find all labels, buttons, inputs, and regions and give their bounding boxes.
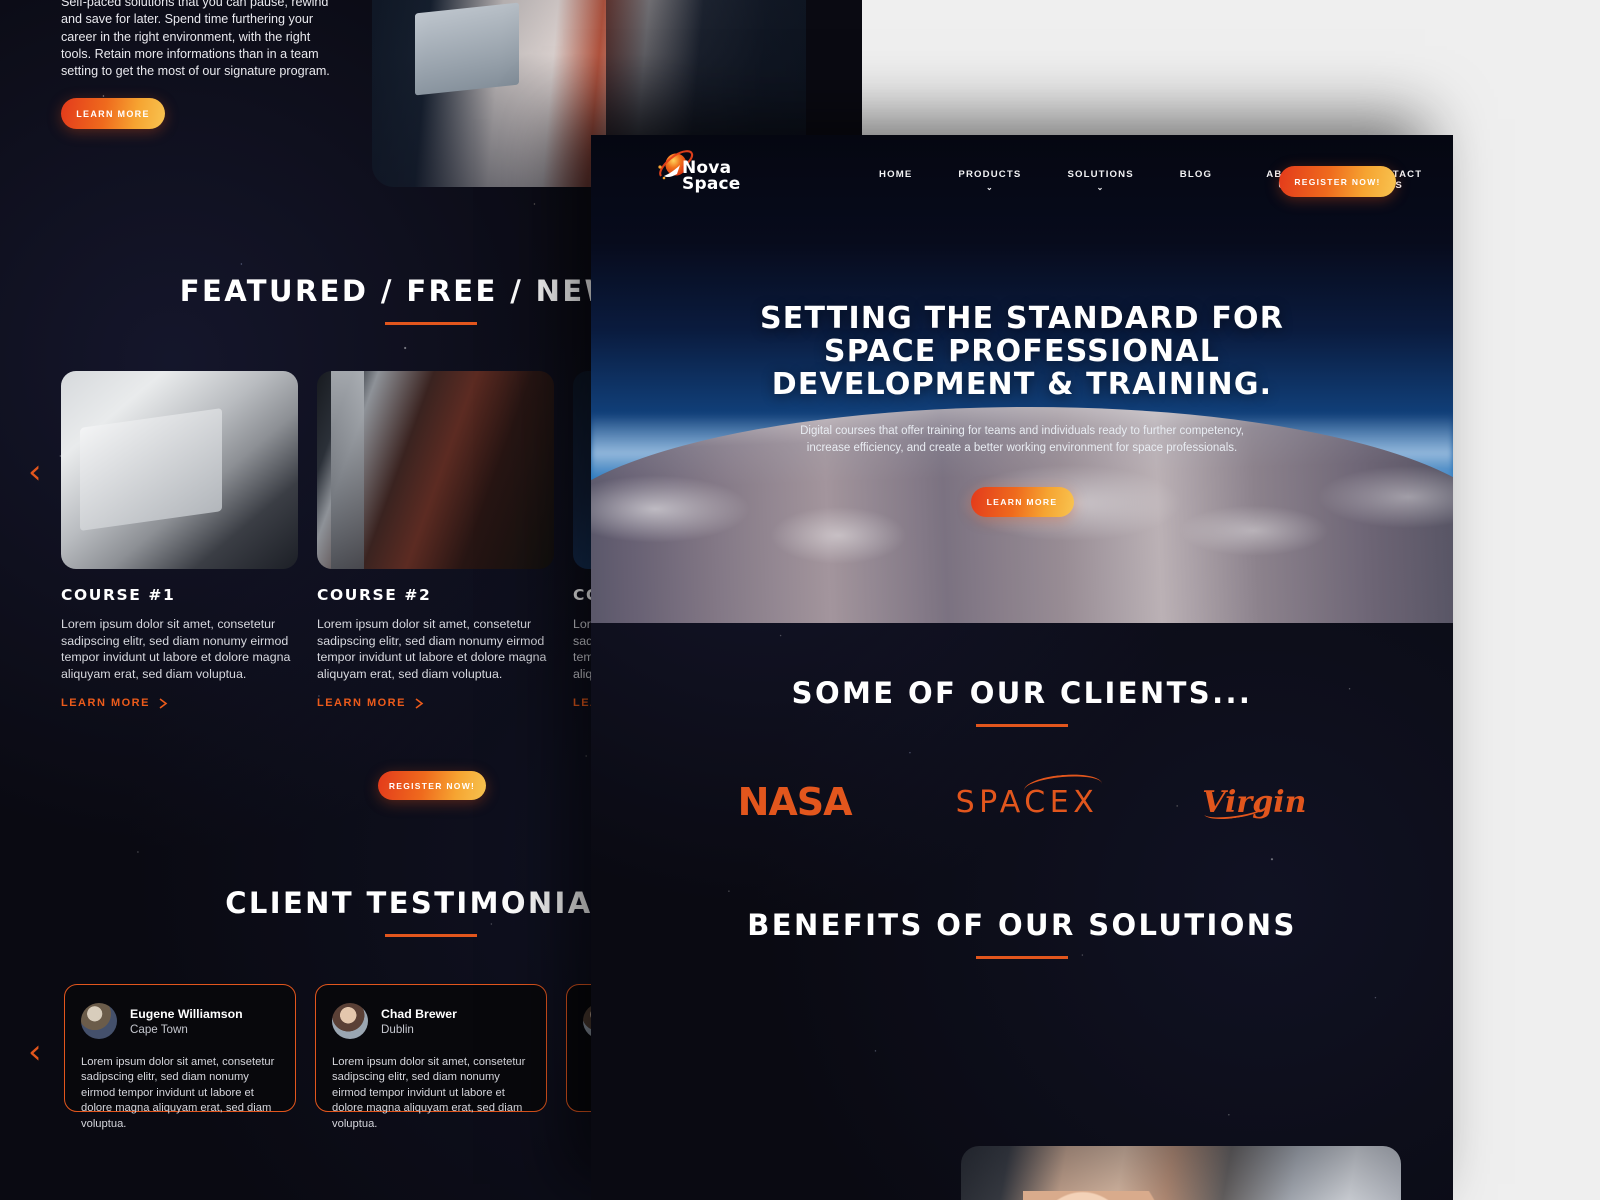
- testimonial-quote: Lorem ipsum dolor sit amet, consetetur s…: [332, 1055, 530, 1132]
- chevron-right-icon: [159, 698, 168, 709]
- heading-rule: [385, 322, 477, 325]
- chevron-right-icon: [415, 698, 424, 709]
- nav-label: HOME: [879, 169, 912, 180]
- testimonial-name: Eugene Williamson: [130, 1007, 243, 1021]
- course-description: Lorem ipsum dolor sit amet, consetetur s…: [317, 616, 554, 682]
- virgin-logo-icon: Virgin: [1202, 785, 1306, 820]
- avatar: [81, 1003, 117, 1039]
- course-card[interactable]: COURSE #2 Lorem ipsum dolor sit amet, co…: [317, 371, 554, 709]
- course-card[interactable]: COURSE #1 Lorem ipsum dolor sit amet, co…: [61, 371, 298, 709]
- avatar: [332, 1003, 368, 1039]
- testimonial-location: Cape Town: [130, 1023, 243, 1036]
- testimonial-name: Chad Brewer: [381, 1007, 457, 1021]
- screenshot-canvas: Self-paced solutions that you can pause,…: [0, 0, 1600, 1200]
- testimonial-person: Eugene Williamson Cape Town: [81, 1003, 279, 1039]
- spacex-logo-icon: SPACEX: [956, 785, 1099, 820]
- course-learn-more-label: LEARN MORE: [61, 697, 150, 709]
- heading-rule: [976, 956, 1068, 959]
- course-learn-more-link[interactable]: LEARN MORE: [317, 697, 554, 709]
- testimonial-person: Chad Brewer Dublin: [332, 1003, 530, 1039]
- course-learn-more-link[interactable]: LEARN MORE: [61, 697, 298, 709]
- clients-heading-block: SOME OF OUR CLIENTS...: [591, 676, 1453, 727]
- hero-title-line-1: SETTING THE STANDARD FOR: [591, 302, 1453, 335]
- course-title: COURSE #1: [61, 586, 298, 604]
- intro-learn-more-button[interactable]: LEARN MORE: [61, 98, 165, 129]
- client-logos: NASA SPACEX Virgin: [591, 780, 1453, 824]
- overlay-body: SOME OF OUR CLIENTS... NASA SPACEX Virgi…: [591, 623, 1453, 1200]
- nav-item-blog[interactable]: BLOG: [1157, 169, 1235, 180]
- chevron-down-icon: ⌄: [958, 184, 1021, 192]
- testimonials-prev-arrow[interactable]: ‹: [28, 1035, 42, 1069]
- nav-item-solutions[interactable]: SOLUTIONS ⌄: [1044, 169, 1156, 192]
- benefit-photo: [961, 1146, 1401, 1200]
- hero-title-line-2: SPACE PROFESSIONAL: [591, 335, 1453, 368]
- testimonial-quote: Lorem ipsum dolor sit amet, consetetur s…: [81, 1055, 279, 1132]
- benefits-heading: BENEFITS OF OUR SOLUTIONS: [591, 908, 1453, 942]
- brand-name-line-2: Space: [682, 177, 741, 193]
- courses-register-button[interactable]: REGISTER NOW!: [378, 771, 486, 800]
- hero-learn-more-button[interactable]: LEARN MORE: [971, 487, 1074, 517]
- brand-logo[interactable]: Nova Space: [652, 149, 752, 201]
- testimonial-card: Eugene Williamson Cape Town Lorem ipsum …: [64, 984, 296, 1112]
- brand-name: Nova Space: [682, 161, 741, 192]
- nav-label: PRODUCTS: [958, 169, 1021, 180]
- nav-label: SOLUTIONS: [1067, 169, 1133, 180]
- course-title: COURSE #2: [317, 586, 554, 604]
- overlay-page: SETTING THE STANDARD FOR SPACE PROFESSIO…: [591, 135, 1453, 1200]
- nav-item-products[interactable]: PRODUCTS ⌄: [935, 169, 1044, 192]
- course-description: Lorem ipsum dolor sit amet, consetetur s…: [61, 616, 298, 682]
- header-register-button[interactable]: REGISTER NOW!: [1279, 166, 1396, 197]
- heading-rule: [385, 934, 477, 937]
- chevron-down-icon: ⌄: [1067, 184, 1133, 192]
- nasa-logo-icon: NASA: [738, 780, 852, 824]
- hero-title: SETTING THE STANDARD FOR SPACE PROFESSIO…: [591, 302, 1453, 401]
- clients-heading: SOME OF OUR CLIENTS...: [591, 676, 1453, 710]
- benefits-heading-block: BENEFITS OF OUR SOLUTIONS: [591, 908, 1453, 959]
- heading-rule: [976, 724, 1068, 727]
- testimonial-location: Dublin: [381, 1023, 457, 1036]
- course-learn-more-label: LEARN MORE: [317, 697, 406, 709]
- course-thumbnail: [61, 371, 298, 569]
- intro-paragraph: Self-paced solutions that you can pause,…: [61, 0, 339, 80]
- hero-subtitle: Digital courses that offer training for …: [787, 423, 1257, 457]
- hero-title-line-3: DEVELOPMENT & TRAINING.: [591, 368, 1453, 401]
- courses-prev-arrow[interactable]: ‹: [28, 455, 42, 489]
- testimonial-card: Chad Brewer Dublin Lorem ipsum dolor sit…: [315, 984, 547, 1112]
- course-thumbnail: [317, 371, 554, 569]
- nav-item-home[interactable]: HOME: [856, 169, 935, 180]
- nav-label: BLOG: [1180, 169, 1212, 180]
